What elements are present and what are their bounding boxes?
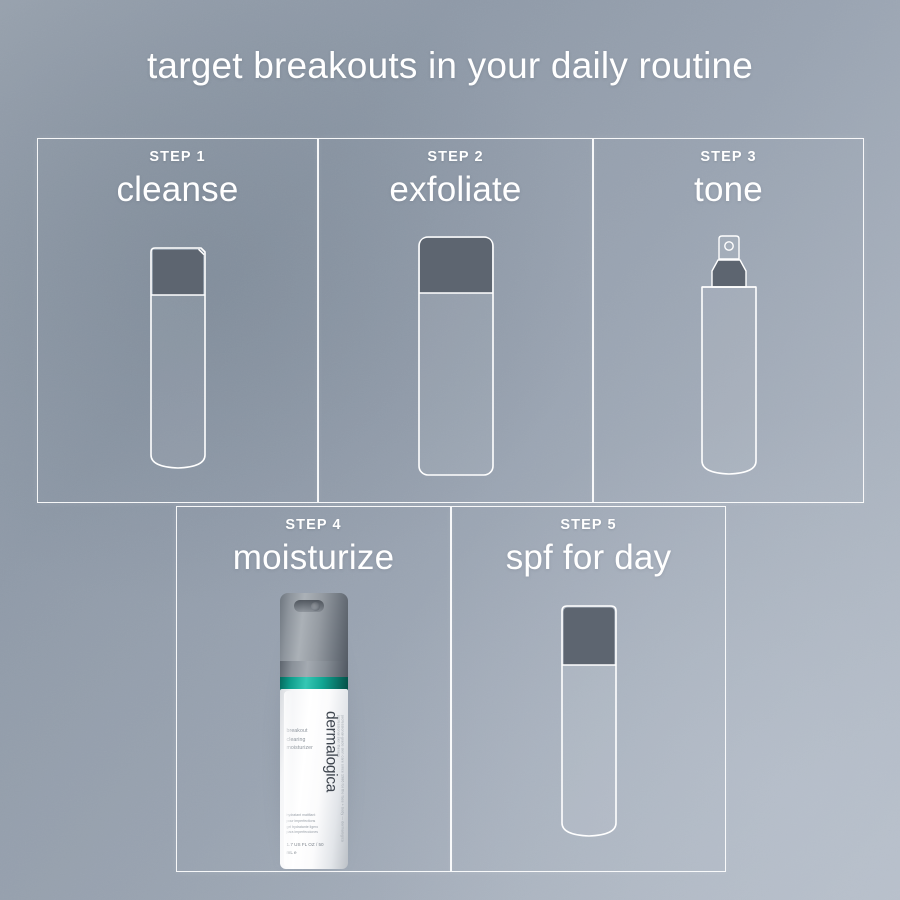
step-card-1[interactable]: STEP 1 cleanse [37,138,318,503]
step-eyebrow: STEP 1 [38,149,317,165]
label-line: moisturizer [287,744,327,753]
product-illustration-toner-spray [689,229,769,485]
step-eyebrow: STEP 4 [177,517,450,533]
product-illustration-spf [546,595,632,853]
step-card-4[interactable]: STEP 4 moisturize breakout clearing mois… [176,506,451,872]
brand-wordmark: dermalogica [322,711,340,792]
step-eyebrow: STEP 2 [319,149,592,165]
step-title: spf for day [452,537,725,578]
bottle-body: breakout clearing moisturizer profession… [280,689,348,869]
step-title: tone [594,169,863,210]
poster-canvas: target breakouts in your daily routine S… [0,0,900,900]
pump-cap [280,593,348,665]
step-eyebrow: STEP 5 [452,517,725,533]
product-photo-moisturizer: breakout clearing moisturizer profession… [262,593,366,869]
step-card-4-heading: STEP 4 moisturize [177,517,450,578]
step-card-5-heading: STEP 5 spf for day [452,517,725,578]
product-illustration-exfoliant [408,225,504,487]
label-line: breakout [287,727,327,736]
step-eyebrow: STEP 3 [594,149,863,165]
step-title: exfoliate [319,169,592,210]
page-title: target breakouts in your daily routine [0,47,900,86]
pump-nozzle-dot [311,602,320,611]
step-card-3[interactable]: STEP 3 tone [593,138,864,503]
step-card-1-heading: STEP 1 cleanse [38,149,317,210]
step-card-5[interactable]: STEP 5 spf for day [451,506,726,872]
step-card-2-heading: STEP 2 exfoliate [319,149,592,210]
step-title: cleanse [38,169,317,210]
label-line: clearing [287,736,327,745]
product-illustration-cleanser [135,237,221,485]
step-card-3-heading: STEP 3 tone [594,149,863,210]
product-label-name: breakout clearing moisturizer [287,727,327,753]
step-title: moisturize [177,537,450,578]
product-volume: 1.7 US FL OZ / 50 mL e [287,841,331,857]
fineprint-line: para imperfecciones [287,830,331,836]
product-fineprint: hydratant matifiant pour imperfections g… [287,813,331,857]
step-card-2[interactable]: STEP 2 exfoliate [318,138,593,503]
